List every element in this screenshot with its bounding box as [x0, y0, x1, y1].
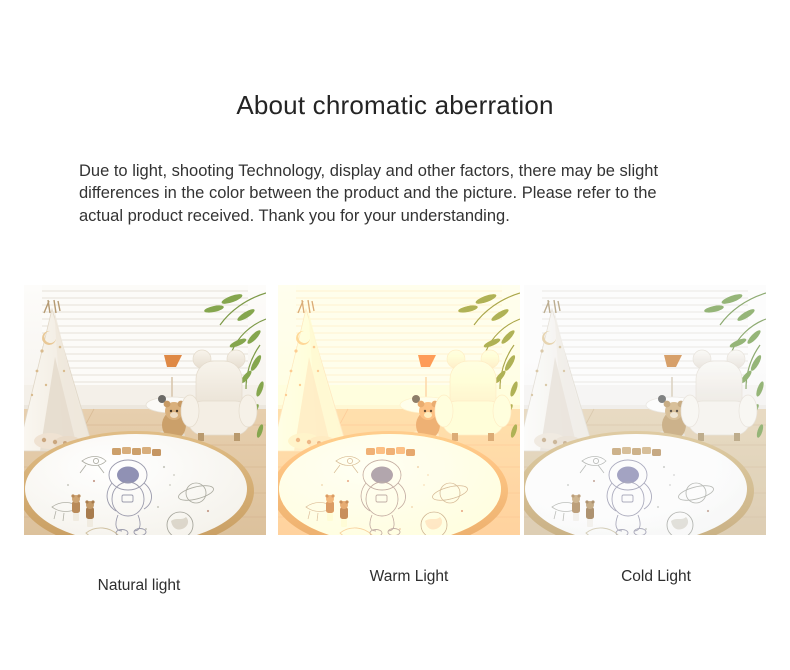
- chair-arm-right: [739, 395, 757, 427]
- chair-arm-right: [239, 395, 257, 427]
- visor: [117, 467, 139, 484]
- caption-warm-light: Warm Light: [288, 568, 530, 586]
- chair-arm-right: [493, 395, 511, 427]
- chair-arm-left: [181, 395, 199, 427]
- lighting-comparison-row: Natural light: [0, 0, 790, 670]
- chair-arm-left: [435, 395, 453, 427]
- comparison-panel-cold[interactable]: [524, 285, 766, 535]
- comparison-panel-warm[interactable]: [278, 285, 520, 535]
- product-photo-natural[interactable]: [24, 285, 266, 535]
- visor: [371, 467, 393, 484]
- caption-cold-light: Cold Light: [535, 568, 777, 586]
- chair-arm-left: [681, 395, 699, 427]
- chromatic-aberration-page: About chromatic aberration Due to light,…: [0, 0, 790, 670]
- visor: [617, 467, 639, 484]
- caption-natural-light: Natural light: [18, 577, 260, 595]
- product-photo-warm[interactable]: [278, 285, 520, 535]
- product-photo-cold[interactable]: [524, 285, 766, 535]
- comparison-panel-natural[interactable]: [24, 285, 266, 535]
